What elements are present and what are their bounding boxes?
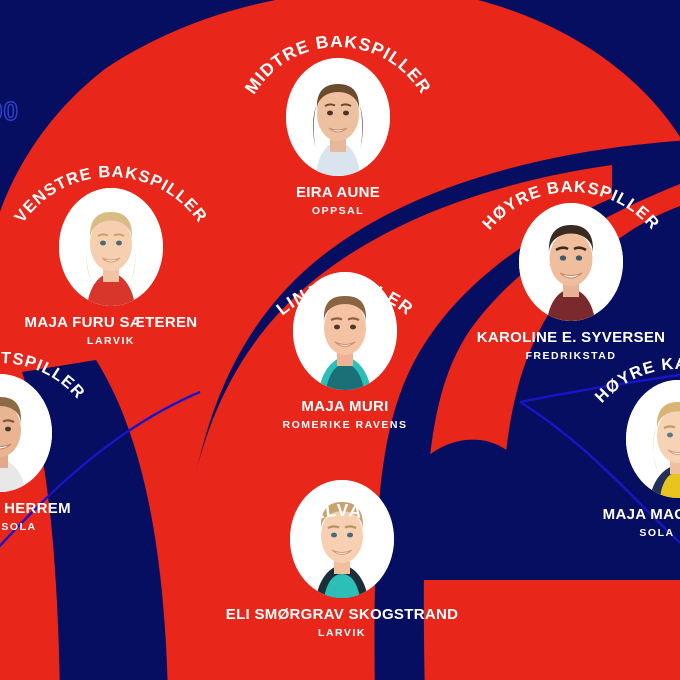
player-photo: [293, 272, 397, 390]
portrait-wrap: LINJESPILLER: [215, 250, 475, 400]
player-name: A HERREM: [0, 500, 130, 517]
player-photo: [286, 58, 390, 176]
player-club: OPPSAL: [208, 205, 468, 217]
portrait-wrap: MÅLVAKT: [212, 458, 472, 608]
player-photo: [290, 480, 394, 598]
player-club: ROMERIKE RAVENS: [215, 419, 475, 431]
player-photo: [519, 203, 623, 321]
player-photo: [0, 374, 52, 492]
player-club: LARVIK: [212, 627, 472, 639]
player-photo: [626, 380, 680, 498]
player-card-hoyre-kantspiller[interactable]: HØYRE KAN MAJA MAGN SOLA: [548, 358, 680, 539]
player-card-malvakt[interactable]: MÅLVAKT ELI SMØRGRAV SKOGSTRAND LARVIK: [212, 458, 472, 639]
avatar: [59, 188, 163, 306]
player-card-hoyre-bakspiller[interactable]: HØYRE BAKSPILLER KAROLINE E. SYVERSEN FR…: [441, 181, 680, 362]
player-card-midtre-bakspiller[interactable]: MIDTRE BAKSPILLER EIRA AUNE OPPSAL: [208, 36, 468, 217]
portrait-wrap: HØYRE KAN: [548, 358, 680, 508]
avatar: [290, 480, 394, 598]
player-name: KAROLINE E. SYVERSEN: [441, 329, 680, 346]
player-name: EIRA AUNE: [208, 184, 468, 201]
player-club: SOLA: [548, 527, 680, 539]
player-name: ELI SMØRGRAV SKOGSTRAND: [212, 606, 472, 623]
portrait-wrap: KANTSPILLER: [0, 352, 130, 502]
portrait-wrap: MIDTRE BAKSPILLER: [208, 36, 468, 186]
player-name: MAJA MURI: [215, 398, 475, 415]
lineup-graphic: 00: [0, 0, 680, 680]
player-name: MAJA MAGN: [548, 506, 680, 523]
avatar: [626, 380, 680, 498]
player-card-venstre-kantspiller[interactable]: KANTSPILLER A HERREM SOLA: [0, 352, 130, 533]
player-club: LARVIK: [0, 335, 241, 347]
player-club: SOLA: [0, 521, 130, 533]
portrait-wrap: VENSTRE BAKSPILLER: [0, 166, 241, 316]
avatar: [519, 203, 623, 321]
player-card-linjespiller[interactable]: LINJESPILLER MAJA MURI ROMERIKE RAVENS: [215, 250, 475, 431]
player-name: MAJA FURU SÆTEREN: [0, 314, 241, 331]
portrait-wrap: HØYRE BAKSPILLER: [441, 181, 680, 331]
avatar: [293, 272, 397, 390]
avatar: [286, 58, 390, 176]
player-card-venstre-bakspiller[interactable]: VENSTRE BAKSPILLER MAJA FURU SÆTEREN LAR…: [0, 166, 241, 347]
avatar: [0, 374, 52, 492]
player-photo: [59, 188, 163, 306]
corner-number-mark: 00: [0, 96, 19, 127]
